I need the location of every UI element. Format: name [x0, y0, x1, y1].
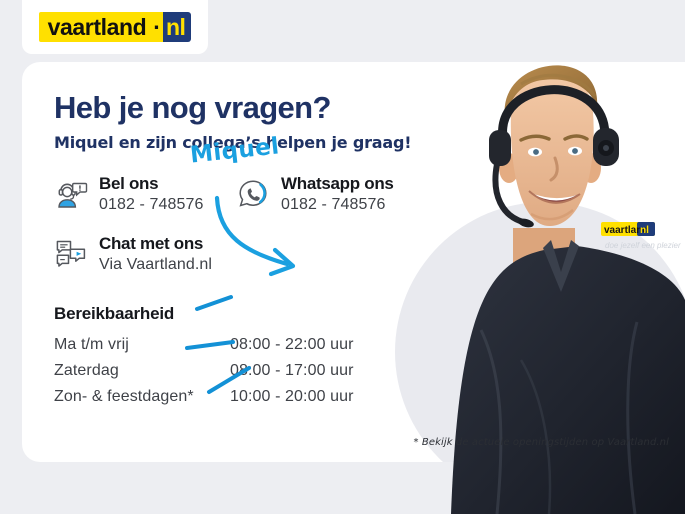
hours-time: 08:00 - 22:00 uur	[230, 333, 354, 359]
page-title: Heb je nog vragen?	[54, 92, 454, 125]
hours-day: Zaterdag	[54, 359, 230, 385]
contact-card: Heb je nog vragen? Miquel en zijn colleg…	[22, 62, 685, 462]
contact-method-call[interactable]: Bel ons 0182 - 748576	[54, 174, 204, 217]
hours-time: 10:00 - 20:00 uur	[230, 385, 354, 411]
logo-lockup: vaartland · nl	[39, 12, 192, 42]
contact-call-value[interactable]: 0182 - 748576	[99, 194, 204, 216]
contact-method-chat[interactable]: Chat met ons Via Vaartland.nl	[54, 234, 212, 277]
logo-wordmark: vaartland	[39, 12, 154, 42]
hours-day: Ma t/m vrij	[54, 333, 230, 359]
brand-logo[interactable]: vaartland · nl	[22, 0, 208, 54]
contact-call-title: Bel ons	[99, 174, 204, 194]
table-row: Zaterdag 08:00 - 17:00 uur	[54, 359, 354, 385]
contact-whatsapp-value[interactable]: 0182 - 748576	[281, 194, 394, 216]
whatsapp-icon	[236, 177, 270, 211]
opening-hours-title: Bereikbaarheid	[54, 304, 454, 324]
headset-person-icon	[54, 177, 88, 211]
card-content: Heb je nog vragen? Miquel en zijn colleg…	[54, 92, 454, 411]
contact-call-text: Bel ons 0182 - 748576	[99, 174, 204, 217]
table-row: Zon- & feestdagen* 10:00 - 20:00 uur	[54, 385, 354, 411]
contact-method-whatsapp[interactable]: Whatsapp ons 0182 - 748576	[236, 174, 394, 217]
hours-time: 08:00 - 17:00 uur	[230, 359, 354, 385]
table-row: Ma t/m vrij 08:00 - 22:00 uur	[54, 333, 354, 359]
logo-dot: ·	[153, 12, 163, 42]
page-subtitle: Miquel en zijn collega’s helpen je graag…	[54, 133, 454, 152]
footnote: * Bekijk de actuele openingstijden op Va…	[414, 437, 669, 448]
contact-whatsapp-title: Whatsapp ons	[281, 174, 394, 194]
contact-chat-text: Chat met ons Via Vaartland.nl	[99, 234, 212, 277]
promo-banner: vaartland · nl Heb je nog vragen? Miquel…	[0, 0, 685, 514]
contact-whatsapp-text: Whatsapp ons 0182 - 748576	[281, 174, 394, 217]
logo-tld: nl	[163, 12, 191, 42]
hours-day: Zon- & feestdagen*	[54, 385, 230, 411]
contact-chat-title: Chat met ons	[99, 234, 212, 254]
opening-hours-table: Ma t/m vrij 08:00 - 22:00 uur Zaterdag 0…	[54, 333, 354, 412]
contact-methods: Bel ons 0182 - 748576 Whatsapp on	[54, 174, 454, 286]
chat-bubbles-icon	[54, 237, 88, 271]
contact-chat-value[interactable]: Via Vaartland.nl	[99, 254, 212, 276]
